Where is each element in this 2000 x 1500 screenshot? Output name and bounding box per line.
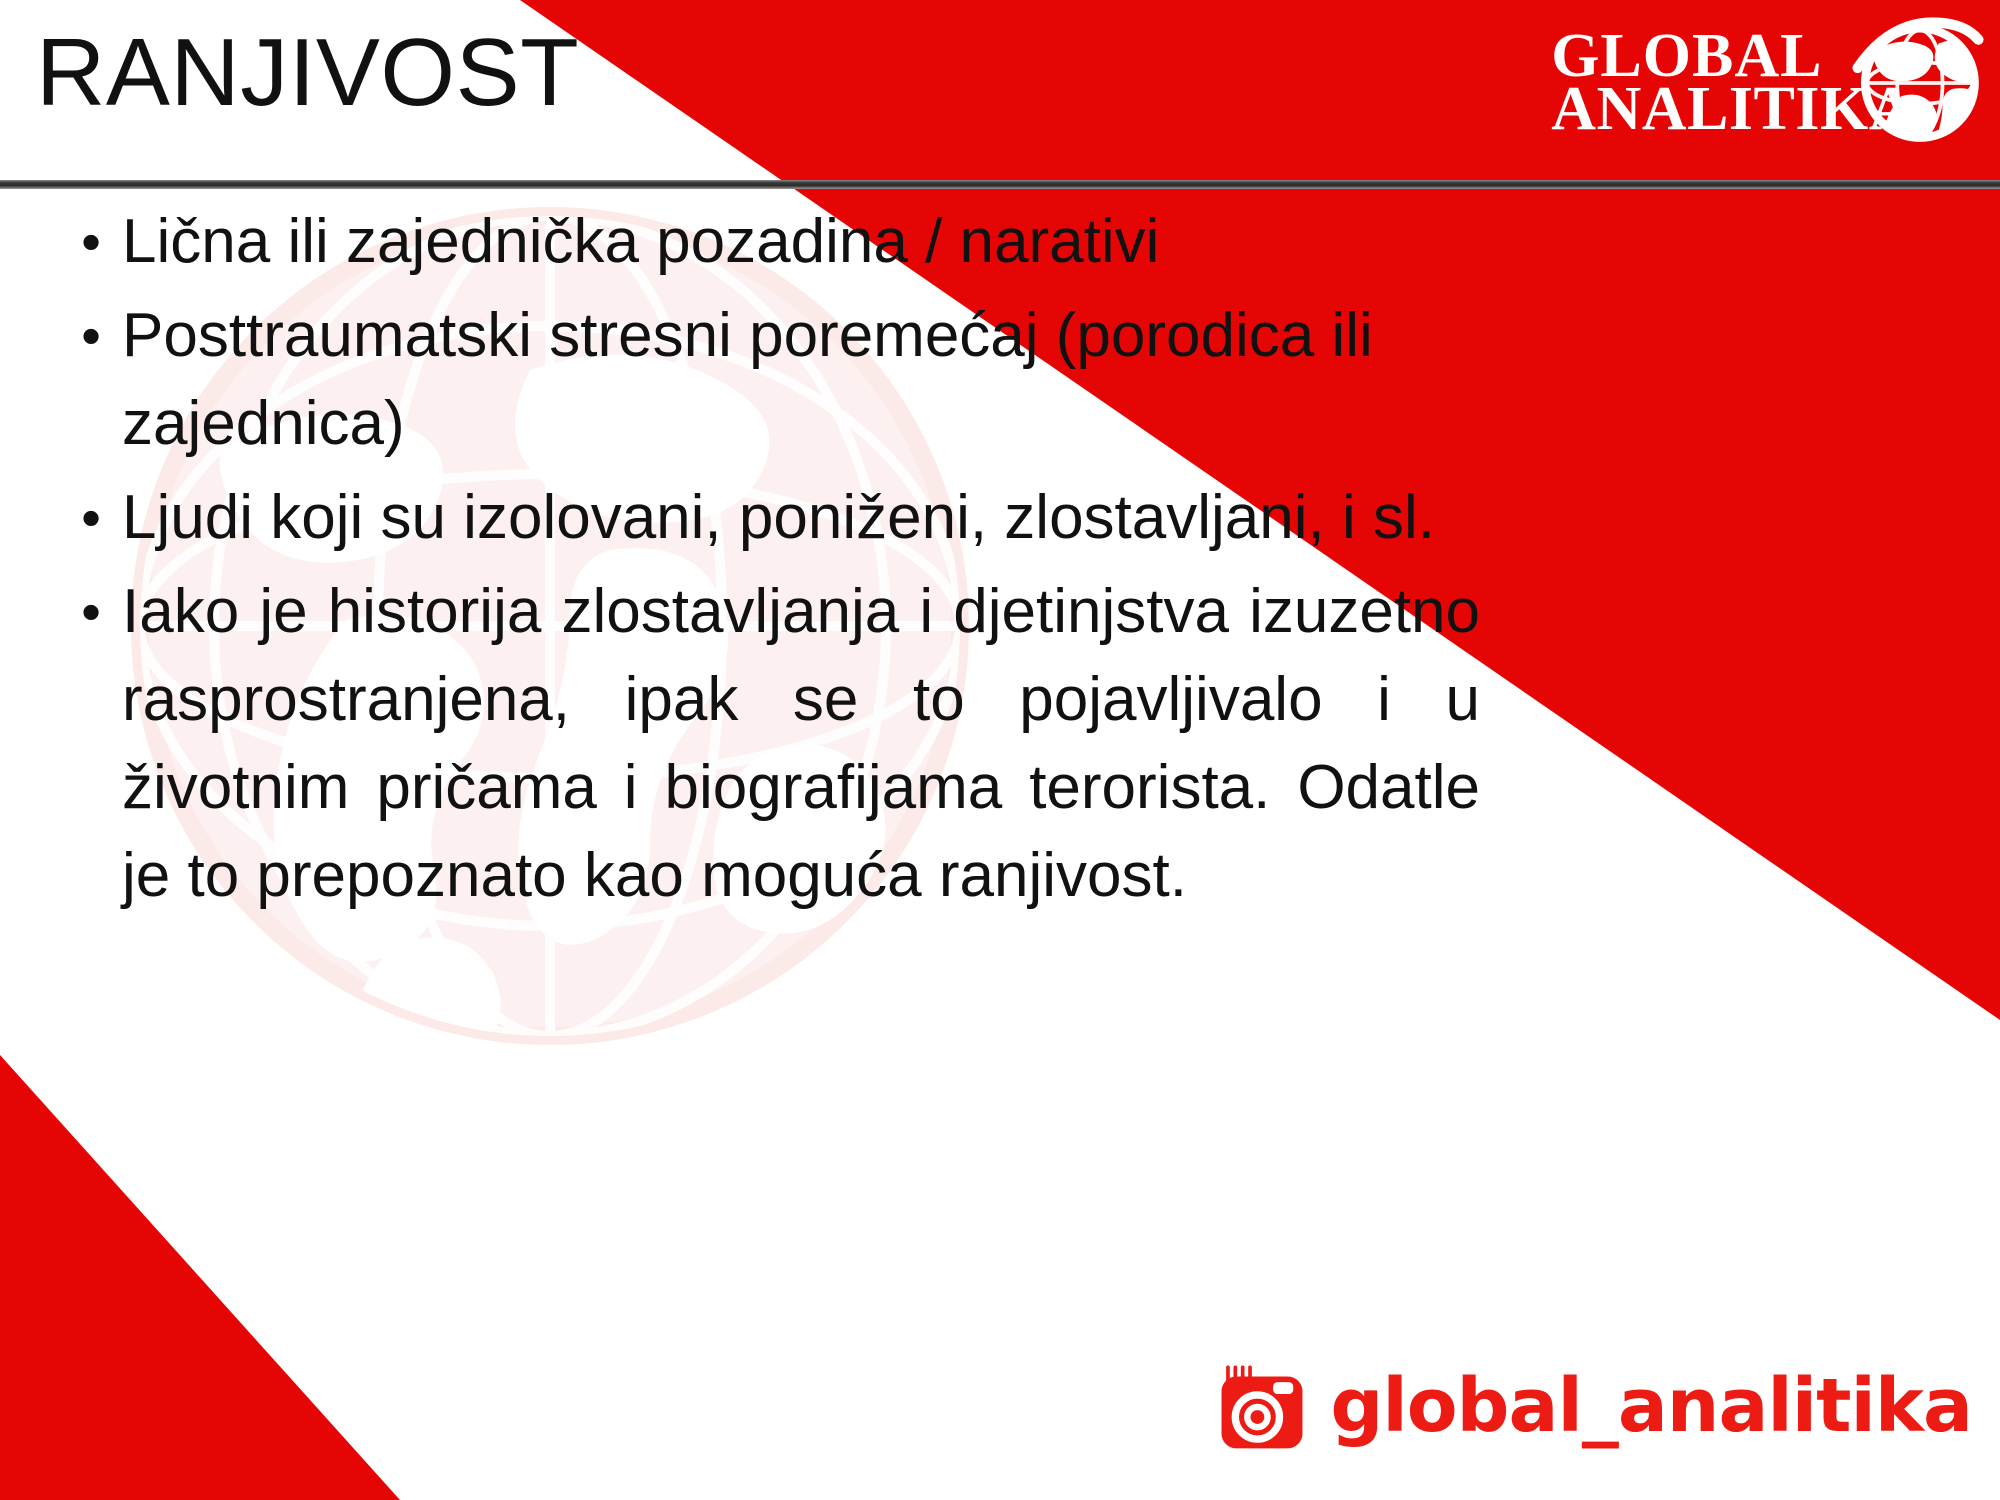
bullet-text-1: Lična ili zajednička pozadina / narativi (122, 198, 1480, 286)
slide-canvas: RANJIVOST GLOBAL ANALITIKA (0, 0, 2000, 1500)
instagram-icon[interactable] (1216, 1360, 1308, 1452)
instagram-handle[interactable]: global_analitika (1330, 1369, 1972, 1443)
brand-logo: GLOBAL ANALITIKA (1551, 8, 1984, 158)
globe-icon (1852, 17, 1984, 149)
bullet-list: • Lična ili zajednička pozadina / narati… (60, 198, 1480, 926)
list-item: • Iako je historija zlostavljanja i djet… (60, 568, 1480, 920)
header-divider (0, 180, 2000, 189)
bullet-text-4: Iako je historija zlostavljanja i djetin… (122, 568, 1480, 920)
bullet-dot-icon: • (60, 292, 122, 380)
instagram-branding[interactable]: global_analitika (1216, 1360, 1972, 1452)
red-wedge-bottom-left (0, 1055, 400, 1500)
bullet-text-3: Ljudi koji su izolovani, poniženi, zlost… (122, 474, 1480, 562)
bullet-text-2: Posttraumatski stresni poremećaj (porodi… (122, 292, 1480, 468)
list-item: • Lična ili zajednička pozadina / narati… (60, 198, 1480, 286)
bullet-dot-icon: • (60, 568, 122, 656)
bullet-dot-icon: • (60, 198, 122, 286)
page-title: RANJIVOST (36, 20, 579, 126)
list-item: • Ljudi koji su izolovani, poniženi, zlo… (60, 474, 1480, 562)
list-item: • Posttraumatski stresni poremećaj (poro… (60, 292, 1480, 468)
bullet-dot-icon: • (60, 474, 122, 562)
